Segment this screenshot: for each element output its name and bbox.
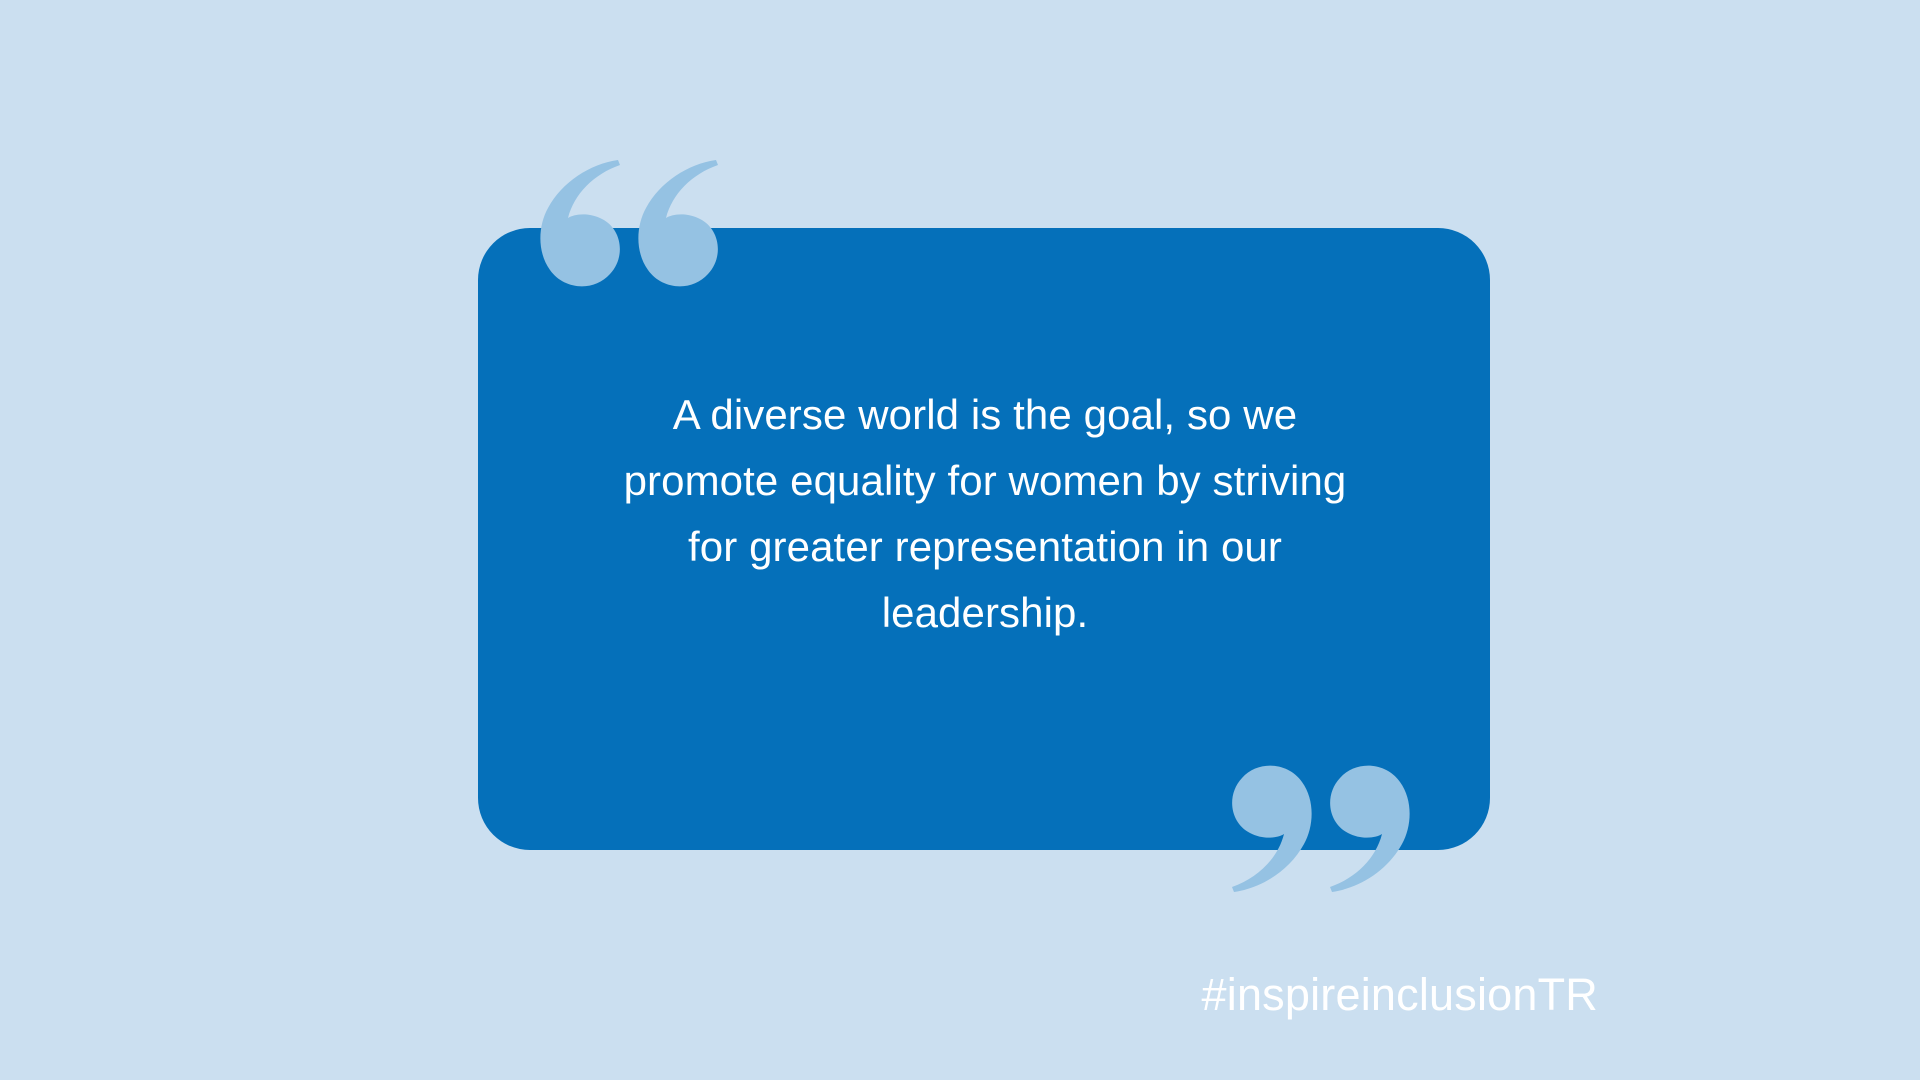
hashtag-label: #inspireinclusionTR xyxy=(1202,968,1598,1022)
slide-canvas: A diverse world is the goal, so we promo… xyxy=(0,0,1920,1080)
quote-text: A diverse world is the goal, so we promo… xyxy=(530,382,1440,646)
